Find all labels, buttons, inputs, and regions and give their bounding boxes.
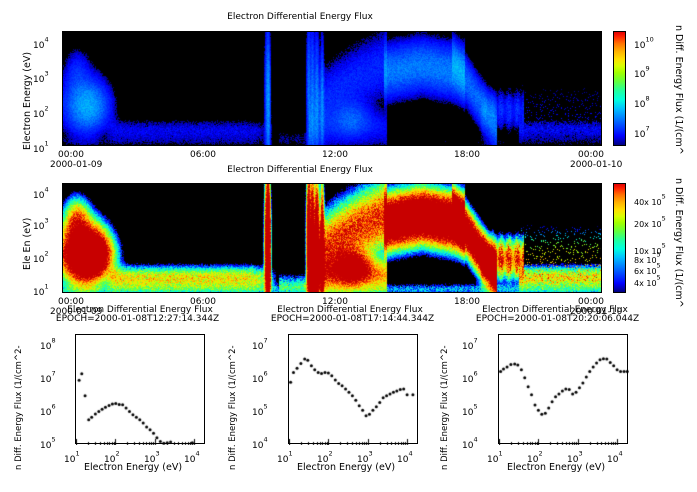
top-spectrogram-ytick-2: 102 [33, 102, 49, 121]
top-xtick-4: 00:00 [578, 150, 604, 160]
spectrum-1-xtick-0: 101 [64, 447, 80, 466]
spectrum-1-plot[interactable] [75, 334, 205, 444]
top-colorbar-tick-1: 109 [634, 62, 650, 81]
top-spectrogram-ytick-3: 101 [33, 137, 49, 156]
top-xtick-2: 12:00 [322, 150, 348, 160]
bottom-spectrogram-ytick-2: 102 [33, 247, 49, 266]
spectrum-3-epoch: EPOCH=2000-01-08T20:20:06.044Z [450, 314, 665, 324]
bottom-colorbar-tick-0: 40x 105 [634, 190, 666, 209]
spectrum-3-ytick-0: 107 [462, 334, 478, 353]
spectrum-2-epoch: EPOCH=2000-01-08T17:14:44.344Z [245, 314, 460, 324]
spectrum-1-epoch: EPOCH=2000-01-08T12:27:14.344Z [30, 314, 245, 324]
top-xtick-0: 00:00 [58, 150, 84, 160]
top-spectrogram-ylabel: Electron Energy (eV) [22, 52, 33, 150]
spectrum-1-xtick-3: 104 [184, 447, 200, 466]
spectrum-2-ytick-2: 105 [252, 400, 268, 419]
top-colorbar [613, 31, 626, 146]
spectrum-3-ylabel: n Diff. Energy Flux (1/(cm^2- [440, 345, 450, 470]
spectrum-2-xtick-0: 101 [277, 447, 293, 466]
bottom-colorbar-tick-5: 4x 105 [634, 271, 661, 290]
bottom-spectrogram-ytick-3: 101 [33, 280, 49, 299]
top-spectrogram-plot[interactable] [62, 31, 602, 146]
top-colorbar-tick-3: 107 [634, 122, 650, 141]
spectrum-3-xtick-3: 104 [607, 447, 623, 466]
spectrum-3-xtick-0: 101 [487, 447, 503, 466]
spectrum-3-plot[interactable] [498, 334, 628, 444]
top-colorbar-tick-0: 1010 [634, 33, 654, 52]
top-colorbar-tick-2: 108 [634, 92, 650, 111]
spectrum-1-xlabel: Electron Energy (eV) [84, 462, 182, 473]
spectrum-2-plot[interactable] [288, 334, 418, 444]
spectrum-3-ytick-3: 104 [462, 433, 478, 452]
bottom-spectrogram-title: Electron Differential Energy Flux [0, 165, 600, 175]
spectrum-2-ytick-3: 104 [252, 433, 268, 452]
spectrum-1-ytick-1: 107 [40, 367, 56, 386]
top-xtick-3: 18:00 [454, 150, 480, 160]
bottom-spectrogram-ytick-1: 103 [33, 214, 49, 233]
spectrum-3-ytick-2: 105 [462, 400, 478, 419]
bottom-colorbar-tick-1: 20x 105 [634, 212, 666, 231]
spectrum-1-ytick-2: 106 [40, 400, 56, 419]
spectrum-2-xtick-3: 104 [397, 447, 413, 466]
spectrum-2-ytick-1: 106 [252, 367, 268, 386]
spectrum-1-ytick-0: 108 [40, 334, 56, 353]
spectrum-3-xlabel: Electron Energy (eV) [507, 462, 605, 473]
top-colorbar-label: n Diff. Energy Flux (1/(cm^ [673, 25, 684, 155]
bottom-colorbar [613, 183, 626, 293]
top-spectrogram-title: Electron Differential Energy Flux [0, 12, 600, 22]
bottom-spectrogram-ylabel: Ele En (eV) [22, 218, 33, 270]
top-spectrogram-ytick-0: 104 [33, 33, 49, 52]
spectrum-2-xlabel: Electron Energy (eV) [297, 462, 395, 473]
top-xtick-1: 06:00 [190, 150, 216, 160]
spectrum-1-ytick-3: 105 [40, 433, 56, 452]
spectrum-3-ytick-1: 106 [462, 367, 478, 386]
bottom-colorbar-label: n Diff. Energy Flux (1/(cm^ [673, 178, 684, 308]
bottom-spectrogram-plot[interactable] [62, 183, 602, 293]
top-spectrogram-ytick-1: 103 [33, 67, 49, 86]
bottom-spectrogram-ytick-0: 104 [33, 183, 49, 202]
spectrum-2-ylabel: n Diff. Energy Flux (1/(cm^2- [228, 345, 238, 470]
spectrum-2-ytick-0: 107 [252, 334, 268, 353]
spectrum-1-ylabel: n Diff. Energy Flux (1/(cm^2- [14, 345, 24, 470]
